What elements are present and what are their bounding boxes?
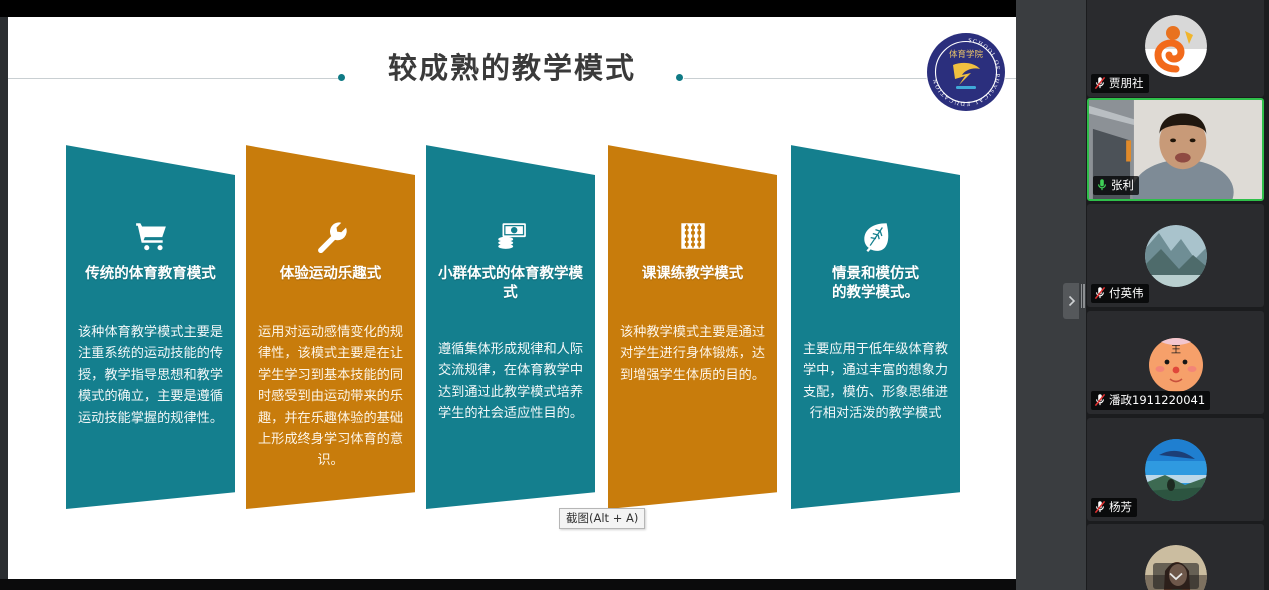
participant-name-chip: 贾朋社 bbox=[1091, 74, 1149, 93]
avatar bbox=[1145, 439, 1207, 501]
mic-muted-icon bbox=[1094, 393, 1106, 407]
card-situational-imitation-model[interactable]: 情景和模仿式 的教学模式。 主要应用于低年级体育教学中，通过丰富的想象力支配，模… bbox=[791, 137, 960, 509]
participant-name-chip: 潘政1911220041 bbox=[1091, 391, 1210, 410]
leaf-icon bbox=[791, 215, 960, 257]
abacus-icon bbox=[608, 215, 777, 257]
slide-title-row: 较成熟的教学模式 bbox=[8, 31, 1016, 93]
share-left-edge bbox=[0, 17, 8, 579]
card-title: 情景和模仿式 的教学模式。 bbox=[797, 265, 954, 302]
participant-name-chip: 付英伟 bbox=[1091, 284, 1149, 303]
participant-tile[interactable]: 王 潘政1911220041 bbox=[1087, 311, 1264, 414]
card-body: 运用对运动感情变化的规律性，该模式主要是在让学生学习到基本技能的同时感受到由运动… bbox=[256, 322, 405, 472]
participant-name: 杨芳 bbox=[1109, 499, 1132, 515]
school-of-physical-education-logo: SCHOOL OF PHYSICAL EDUCATION 体育学院 bbox=[925, 31, 1007, 113]
shared-screen-region[interactable]: 较成熟的教学模式 SCHOOL OF PHYSICAL EDUCATION 体育… bbox=[0, 0, 1016, 590]
card-body: 该种体育教学模式主要是注重系统的运动技能的传授，教学指导思想和教学模式的确立，主… bbox=[76, 322, 225, 429]
card-title: 传统的体育教育模式 bbox=[72, 265, 229, 284]
scroll-down-participants-button[interactable] bbox=[1153, 563, 1199, 589]
mic-muted-icon bbox=[1094, 500, 1106, 514]
collapse-participants-panel-button[interactable] bbox=[1063, 283, 1079, 319]
participant-name: 张利 bbox=[1111, 177, 1134, 193]
card-traditional-pe-model[interactable]: 传统的体育教育模式 该种体育教学模式主要是注重系统的运动技能的传授，教学指导思想… bbox=[66, 137, 235, 509]
participant-name: 潘政1911220041 bbox=[1109, 392, 1205, 408]
slide-card-row: 传统的体育教育模式 该种体育教学模式主要是注重系统的运动技能的传授，教学指导思想… bbox=[8, 137, 1016, 527]
participant-name-chip: 张利 bbox=[1093, 176, 1139, 195]
participant-tile[interactable]: 付英伟 bbox=[1087, 204, 1264, 307]
participant-tile[interactable]: 杨芳 bbox=[1087, 418, 1264, 521]
participant-tile[interactable] bbox=[1087, 524, 1264, 590]
card-title: 课课练教学模式 bbox=[614, 265, 771, 284]
participant-tile-active-speaker[interactable]: 张利 bbox=[1087, 98, 1264, 201]
participant-tile[interactable]: 贾朋社 bbox=[1087, 0, 1264, 97]
card-title: 体验运动乐趣式 bbox=[252, 265, 409, 284]
chevron-right-icon bbox=[1067, 295, 1076, 307]
svg-text:体育学院: 体育学院 bbox=[949, 49, 984, 60]
card-lesson-drill-model[interactable]: 课课练教学模式 该种教学模式主要是通过对学生进行身体锻炼，达到增强学生体质的目的… bbox=[608, 137, 777, 509]
mic-active-icon bbox=[1096, 178, 1108, 192]
svg-text:王: 王 bbox=[1171, 345, 1181, 356]
meeting-screen-share-window: 较成熟的教学模式 SCHOOL OF PHYSICAL EDUCATION 体育… bbox=[0, 0, 1269, 590]
card-small-group-pe-model[interactable]: 小群体式的体育教学模式 遵循集体形成规律和人际交流规律，在体育教学中达到通过此教… bbox=[426, 137, 595, 509]
avatar bbox=[1145, 225, 1207, 287]
participant-name: 付英伟 bbox=[1109, 285, 1144, 301]
participants-strip[interactable]: 贾朋社 bbox=[1086, 0, 1269, 590]
chevron-down-icon bbox=[1168, 571, 1184, 581]
participant-name-chip: 杨芳 bbox=[1091, 498, 1137, 517]
mic-muted-icon bbox=[1094, 76, 1106, 90]
card-experience-sport-fun[interactable]: 体验运动乐趣式 运用对运动感情变化的规律性，该模式主要是在让学生学习到基本技能的… bbox=[246, 137, 415, 509]
participant-name: 贾朋社 bbox=[1109, 75, 1144, 91]
avatar: 王 bbox=[1145, 332, 1207, 394]
card-title: 小群体式的体育教学模式 bbox=[432, 265, 589, 302]
card-body: 主要应用于低年级体育教学中，通过丰富的想象力支配，模仿、形象思维进行相对活泼的教… bbox=[801, 339, 950, 425]
shopping-cart-icon bbox=[66, 215, 235, 257]
wrench-icon bbox=[246, 215, 415, 257]
mic-muted-icon bbox=[1094, 286, 1106, 300]
avatar bbox=[1145, 15, 1207, 77]
panel-drag-handle[interactable] bbox=[1079, 0, 1086, 590]
presentation-slide[interactable]: 较成熟的教学模式 SCHOOL OF PHYSICAL EDUCATION 体育… bbox=[8, 17, 1016, 579]
slide-title: 较成熟的教学模式 bbox=[8, 45, 1016, 87]
money-icon bbox=[426, 215, 595, 257]
card-body: 遵循集体形成规律和人际交流规律，在体育教学中达到通过此教学模式培养学生的社会适应… bbox=[436, 339, 585, 425]
share-bottom-letterbox bbox=[0, 579, 1016, 590]
screenshot-tooltip: 截图(Alt + A) bbox=[559, 508, 645, 529]
card-body: 该种教学模式主要是通过对学生进行身体锻炼，达到增强学生体质的目的。 bbox=[618, 322, 767, 386]
share-top-letterbox bbox=[0, 0, 1016, 17]
